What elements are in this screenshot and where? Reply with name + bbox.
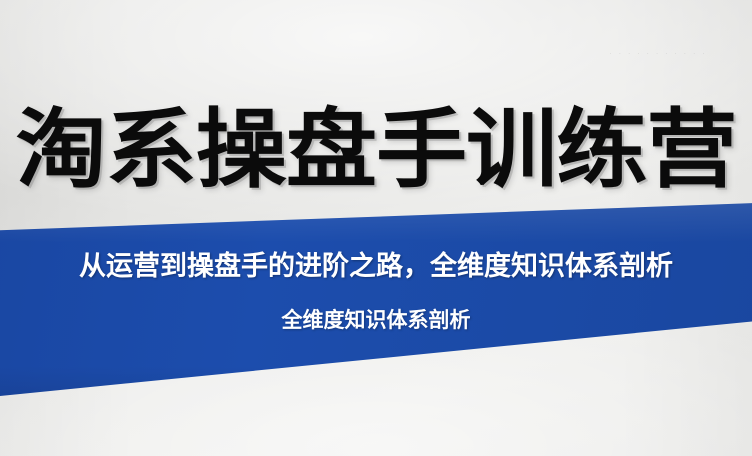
blue-banner-shape	[0, 196, 752, 408]
subtitle-line-1: 从运营到操盘手的进阶之路，全维度知识体系剖析	[0, 250, 752, 283]
course-poster: · · · · · · · · · · · 淘系操盘手训练营 从运营到操盘手的进…	[0, 0, 752, 456]
subtitle-line-2: 全维度知识体系剖析	[0, 307, 752, 333]
subtitle-line-1-text: 从运营到操盘手的进阶之路，全维度知识体系剖析	[79, 250, 673, 283]
watermark-text: · · · · · · · · · · ·	[609, 49, 707, 58]
headline-text: 淘系操盘手训练营	[16, 98, 737, 202]
poster-headline: 淘系操盘手训练营	[0, 98, 752, 202]
subtitle-line-2-text: 全维度知识体系剖析	[282, 307, 471, 333]
